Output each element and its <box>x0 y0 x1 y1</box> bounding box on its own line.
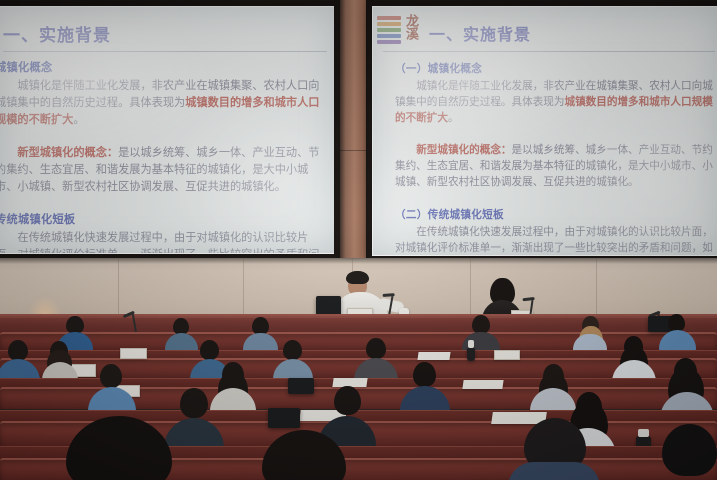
wall-shadow-line <box>0 258 717 264</box>
right-slide-title: 一、实施背景 <box>429 21 531 45</box>
laptop-screen <box>316 296 341 316</box>
laptop-row4 <box>268 408 300 428</box>
right-paragraph-3: 在传统城镇化快速发展过程中，由于对城镇化的认识比较片面，对城镇化评价标准单一，渐… <box>395 224 717 256</box>
right-spacer-2 <box>395 198 717 207</box>
right-heading-1: （一）城镇化概念 <box>395 61 717 76</box>
left-slide-divider <box>3 51 327 52</box>
right-slide-body: （一）城镇化概念 城镇化是伴随工业化发展，非农产业在城镇集聚、农村人口向城镇集中… <box>373 53 717 255</box>
left-heading-1: 城镇化概念 <box>0 59 329 75</box>
name-card-row2-a <box>120 348 147 359</box>
institute-emblem-icon: 龙溪 <box>377 13 425 47</box>
right-slide-header: 龙溪 一、实施背景 <box>373 7 717 51</box>
lecture-hall-photo: 一、实施背景 城镇化概念 城镇化是伴随工业化发展，非农产业在城镇集聚、农村人口向… <box>0 0 717 480</box>
paper-row2 <box>417 352 450 360</box>
right-paragraph-1: 城镇化是伴随工业化发展，非农产业在城镇集聚、农村人口向城镇集中的自然历史过程。具… <box>395 78 717 126</box>
emblem-bars <box>377 16 401 44</box>
seat-row-1 <box>0 332 717 350</box>
right-spacer-1 <box>395 133 717 142</box>
speaker-male-hair <box>346 271 369 284</box>
right-paragraph-2: 新型城镇化的概念：是以城乡统筹、城乡一体、产业互动、节约集约、生态宜居、和谐发展… <box>395 142 717 190</box>
left-slide: 一、实施背景 城镇化概念 城镇化是伴随工业化发展，非农产业在城镇集聚、农村人口向… <box>0 7 335 253</box>
left-slide-title: 一、实施背景 <box>3 21 111 46</box>
bottle-row2 <box>467 347 475 361</box>
right-slide-divider <box>383 51 715 52</box>
left-projection-screen[interactable]: 一、实施背景 城镇化概念 城镇化是伴随工业化发展，非农产业在城镇集聚、农村人口向… <box>0 6 336 254</box>
laptop-row3 <box>288 378 314 394</box>
left-slide-body: 城镇化概念 城镇化是伴随工业化发展，非农产业在城镇集聚、农村人口向城镇集中的自然… <box>0 53 335 253</box>
left-slide-header: 一、实施背景 <box>0 7 335 51</box>
right-slide: 龙溪 一、实施背景 （一）城镇化概念 城镇化是伴随工业化发展，非农产业在城镇集聚… <box>373 7 717 255</box>
left-paragraph-1: 城镇化是伴随工业化发展，非农产业在城镇集聚、农村人口向城镇集中的自然历史过程。具… <box>0 77 329 128</box>
left-heading-2: 传统城镇化短板 <box>0 211 329 227</box>
right-heading-2: （二）传统城镇化短板 <box>395 207 717 222</box>
left-paragraph-2: 新型城镇化的概念：是以城乡统筹、城乡一体、产业互动、节约集约、生态宜居、和谐发展… <box>0 144 329 195</box>
left-paragraph-3: 在传统城镇化快速发展过程中，由于对城镇化的认识比较片面，对城镇化评价标准单一，渐… <box>0 229 329 254</box>
right-projection-screen[interactable]: 龙溪 一、实施背景 （一）城镇化概念 城镇化是伴随工业化发展，非农产业在城镇集聚… <box>372 6 717 256</box>
name-card-row2-c <box>494 350 520 360</box>
left-spacer-1 <box>0 135 329 144</box>
paper-row3-b <box>462 380 503 389</box>
emblem-calligraphy: 龙溪 <box>403 14 417 46</box>
left-spacer-2 <box>0 202 329 211</box>
